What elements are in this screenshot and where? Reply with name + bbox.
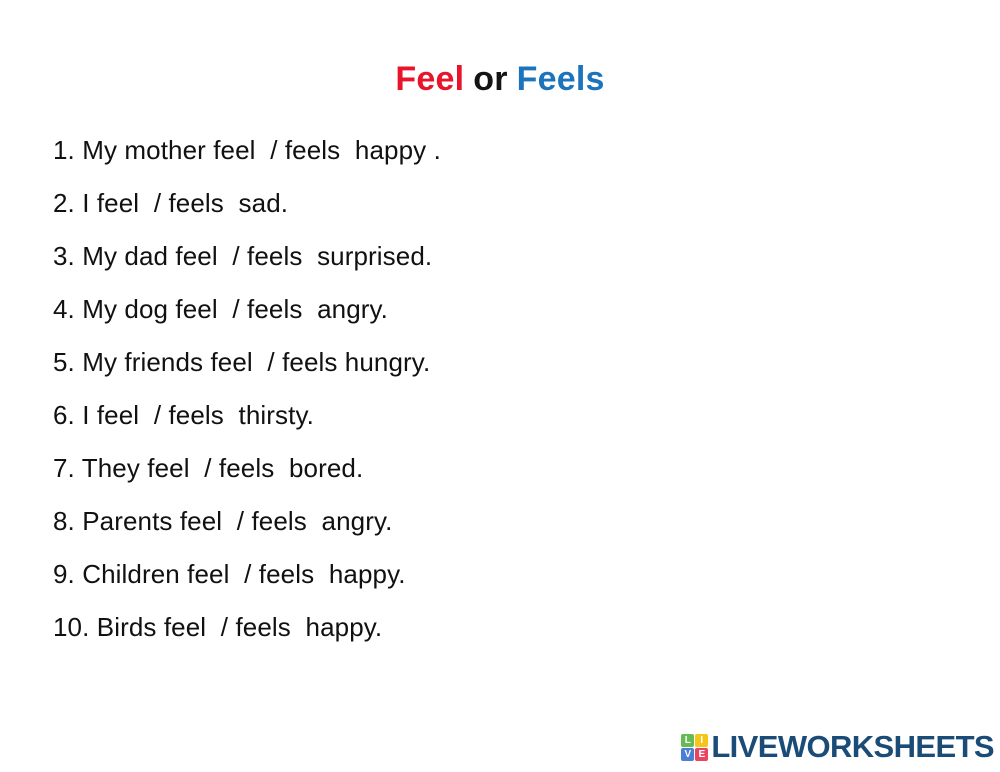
logo-tile-l: L [681,734,694,747]
question-item-8[interactable]: 8. Parents feel / feels angry. [53,495,773,548]
title-word-or: or [473,60,507,98]
title-word-feels: Feels [517,60,605,98]
logo-tile-i: I [695,734,708,747]
question-item-9[interactable]: 9. Children feel / feels happy. [53,548,773,601]
question-item-4[interactable]: 4. My dog feel / feels angry. [53,283,773,336]
question-item-7[interactable]: 7. They feel / feels bored. [53,442,773,495]
question-item-1[interactable]: 1. My mother feel / feels happy . [53,124,773,177]
page-title: FeelorFeels [0,58,1000,100]
liveworksheets-wordmark: LIVEWORKSHEETS [711,731,994,763]
question-item-10[interactable]: 10. Birds feel / feels happy. [53,601,773,654]
title-word-feel: Feel [395,60,464,98]
question-list: 1. My mother feel / feels happy . 2. I f… [53,124,773,654]
question-item-3[interactable]: 3. My dad feel / feels surprised. [53,230,773,283]
question-item-6[interactable]: 6. I feel / feels thirsty. [53,389,773,442]
question-item-5[interactable]: 5. My friends feel / feels hungry. [53,336,773,389]
logo-tile-e: E [695,748,708,761]
liveworksheets-logo-icon: L I V E [681,734,708,761]
question-item-2[interactable]: 2. I feel / feels sad. [53,177,773,230]
worksheet-page: FeelorFeels 1. My mother feel / feels ha… [0,0,1000,772]
liveworksheets-logo[interactable]: L I V E LIVEWORKSHEETS [681,730,994,764]
logo-tile-v: V [681,748,694,761]
